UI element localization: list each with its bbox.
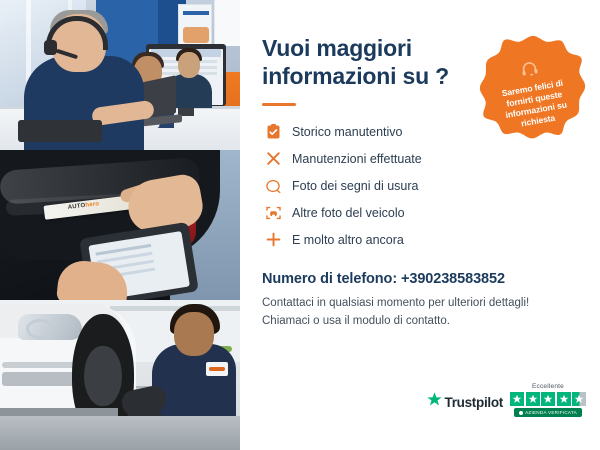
mechanic-wheel-check-photo [0,300,240,450]
mechanic-head [174,312,214,356]
car-headlight [18,314,82,340]
contact-line-2: Chiamaci o usa il modulo di contatto. [262,312,580,330]
plus-icon [262,231,284,249]
wall-shelf-line [110,306,240,311]
star-filled-3 [541,392,555,406]
trustpilot-star-icon [427,392,442,412]
agent-1-earcup [44,40,57,55]
phone-line: Numero di telefono: +390238583852 [262,271,580,287]
badge-text: Saremo felici di fornirti queste informa… [487,75,583,135]
vehicle-inspection-strip-photo: AUTOhero [0,150,240,300]
list-item: E molto altro ancora [262,226,580,253]
star-filled-4 [557,392,571,406]
star-filled-1 [510,392,524,406]
desk-tray [18,120,102,142]
garage-floor [0,416,240,450]
star-rating [510,392,586,406]
promo-card: AUTOhero [0,0,600,450]
uniform-logo [206,362,228,376]
content-panel: Vuoi maggiori informazioni su ? Storico … [240,0,600,450]
star-filled-2 [526,392,540,406]
call-center-agents-photo [0,0,240,150]
phone-number[interactable]: +390238583852 [401,271,505,287]
tools-cross-icon [262,150,284,168]
verified-label: AZIENDA VERIFICATA [525,410,577,415]
camera-lens-icon [262,177,284,195]
check-icon [519,411,523,415]
list-item: Altre foto del veicolo [262,199,580,226]
verified-business-badge: AZIENDA VERIFICATA [514,408,582,417]
contact-line-1: Contattaci in qualsiasi momento per ulte… [262,294,580,312]
phone-label: Numero di telefono: [262,271,397,287]
list-item-label: Manutenzioni effettuate [292,152,422,166]
wall-sheet [214,0,240,46]
wheel-rim [84,346,122,406]
trustpilot-rating: Eccellente AZIENDA VERIFICATA [510,383,586,418]
list-item: Foto dei segni di usura [262,172,580,199]
callout-badge: Saremo felici di fornirti queste informa… [475,34,591,150]
clipboard-check-icon [262,123,284,141]
trustpilot-wordmark: Trustpilot [445,395,504,410]
photo-column: AUTOhero [0,0,240,450]
scan-car-icon [262,204,284,222]
trustpilot-logo: Trustpilot [427,392,504,417]
page-title: Vuoi maggiori informazioni su ? [262,34,467,90]
star-half-5 [572,392,586,406]
list-item-label: Altre foto del veicolo [292,206,405,220]
rating-label: Eccellente [532,383,564,390]
headset-icon [519,60,539,83]
list-item-label: E molto altro ancora [292,233,404,247]
list-item-label: Foto dei segni di usura [292,179,418,193]
trustpilot-widget[interactable]: Trustpilot Eccellente AZIENDA VERIFICATA [427,383,587,418]
agent-3-head [178,52,200,78]
contact-description: Contattaci in qualsiasi momento per ulte… [262,294,580,330]
list-item-label: Storico manutentivo [292,125,402,139]
title-divider [262,103,296,106]
